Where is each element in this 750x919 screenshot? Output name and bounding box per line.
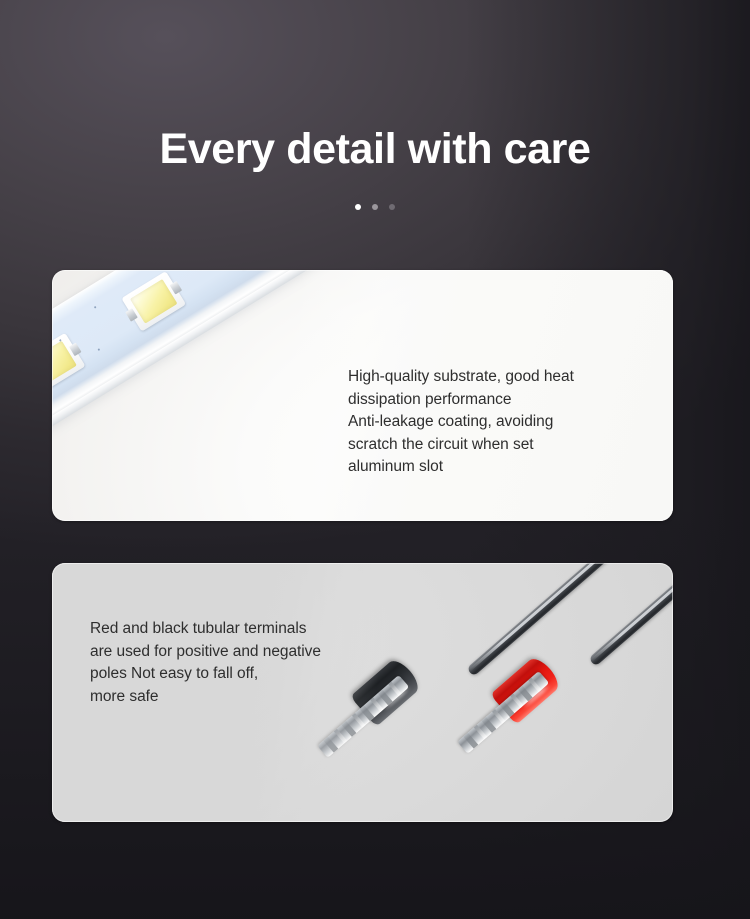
led-chip-icon — [121, 271, 186, 331]
promo-page: Every detail with care — [0, 0, 750, 919]
led-chip-icon — [52, 333, 85, 393]
card-substrate-description: High-quality substrate, good heat dissip… — [348, 366, 668, 479]
page-title: Every detail with care — [0, 126, 750, 173]
red-wire-icon — [588, 563, 673, 667]
pagination-dot-2[interactable] — [372, 204, 378, 210]
feature-card-substrate: Q1 High-quality substrate, good heat dis… — [52, 270, 673, 521]
black-wire-icon — [466, 563, 654, 677]
page-header: Every detail with care — [0, 0, 750, 248]
pagination-dot-3[interactable] — [389, 204, 395, 210]
card-terminals-description: Red and black tubular terminals are used… — [90, 618, 420, 708]
pagination-dot-1[interactable] — [355, 204, 361, 210]
pagination-dots[interactable] — [0, 204, 750, 210]
feature-card-terminals: Red and black tubular terminals are used… — [52, 563, 673, 822]
